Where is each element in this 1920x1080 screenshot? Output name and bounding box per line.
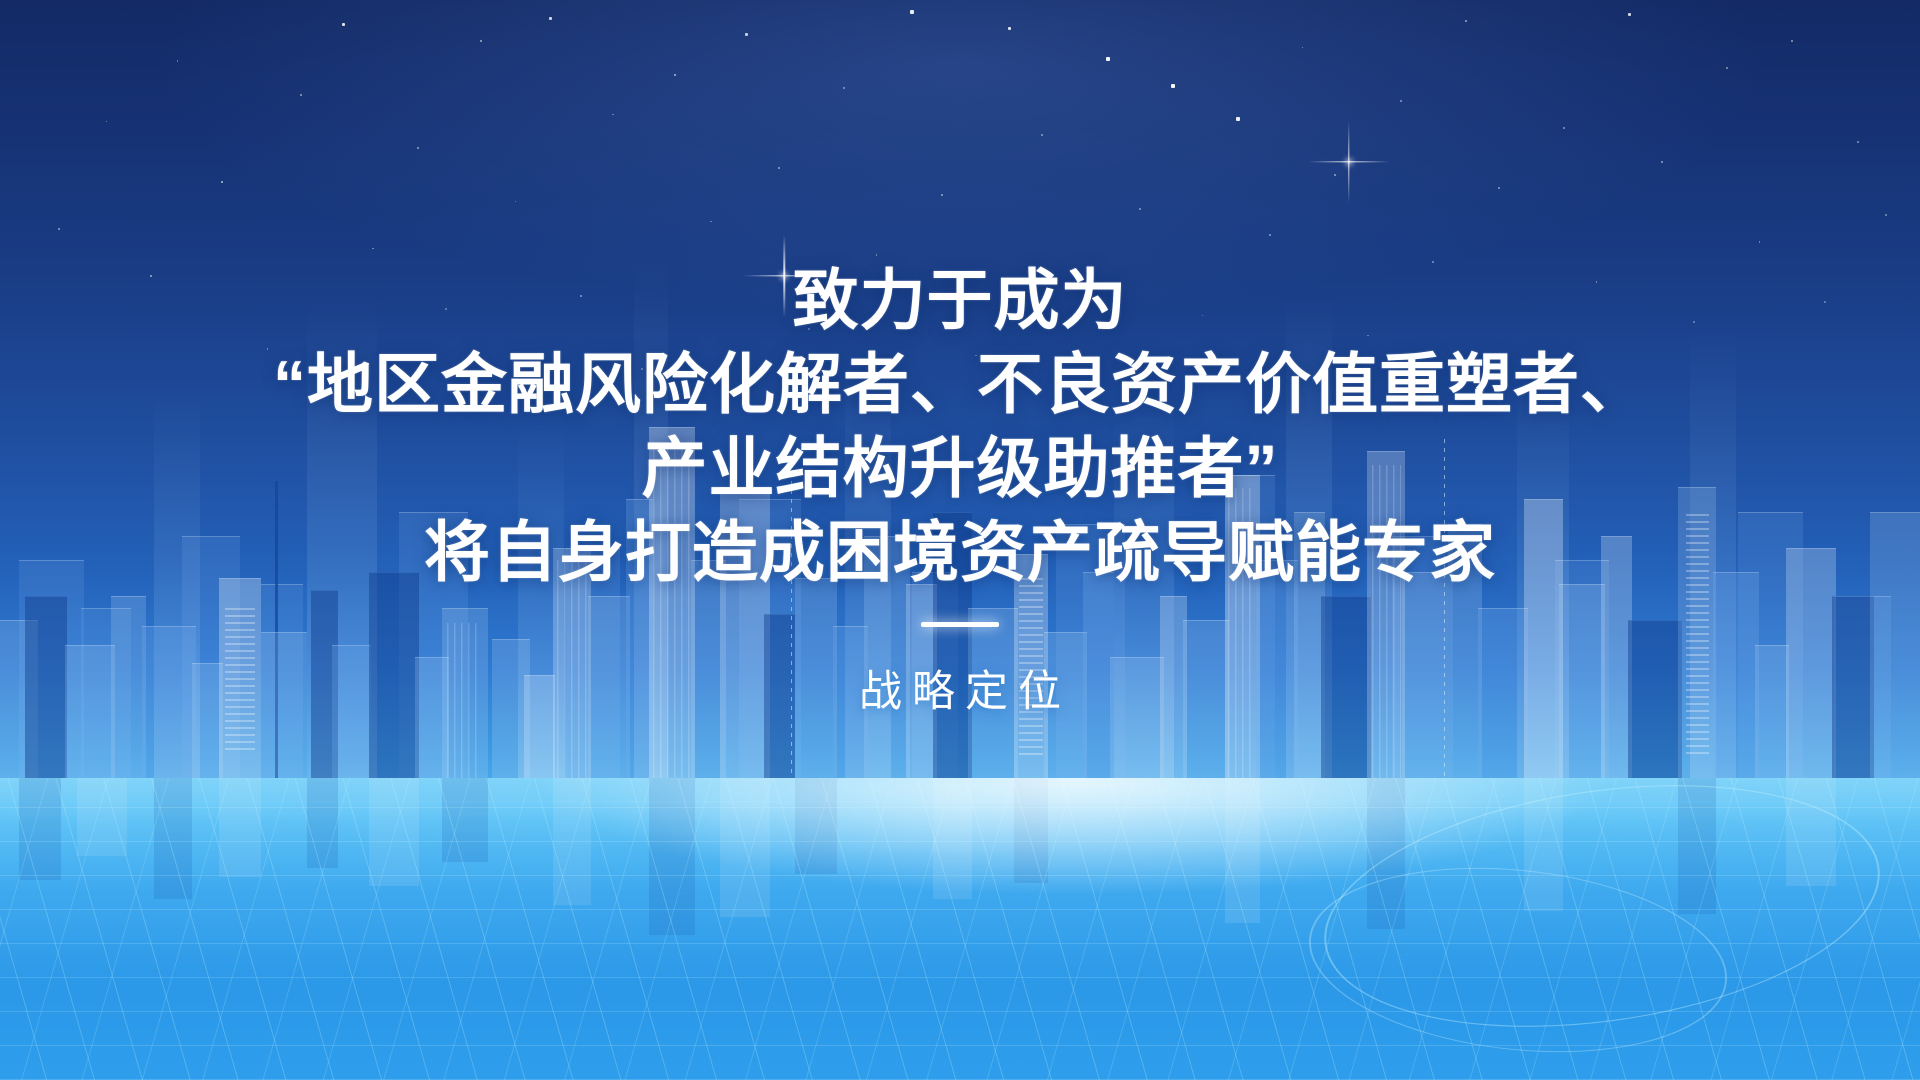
title-divider [921, 622, 999, 627]
slide-canvas: 致力于成为 “地区金融风险化解者、不良资产价值重塑者、 产业结构升级助推者” 将… [0, 0, 1920, 1080]
headline-line-1: 致力于成为 [793, 258, 1128, 342]
slide-content: 致力于成为 “地区金融风险化解者、不良资产价值重塑者、 产业结构升级助推者” 将… [0, 0, 1920, 1080]
subtitle: 战略定位 [849, 657, 1071, 719]
headline-line-4: 将自身打造成困境资产疏导赋能专家 [424, 510, 1496, 594]
headline-line-2: “地区金融风险化解者、不良资产价值重塑者、 [273, 342, 1647, 426]
headline-line-3: 产业结构升级助推者” [642, 426, 1279, 510]
